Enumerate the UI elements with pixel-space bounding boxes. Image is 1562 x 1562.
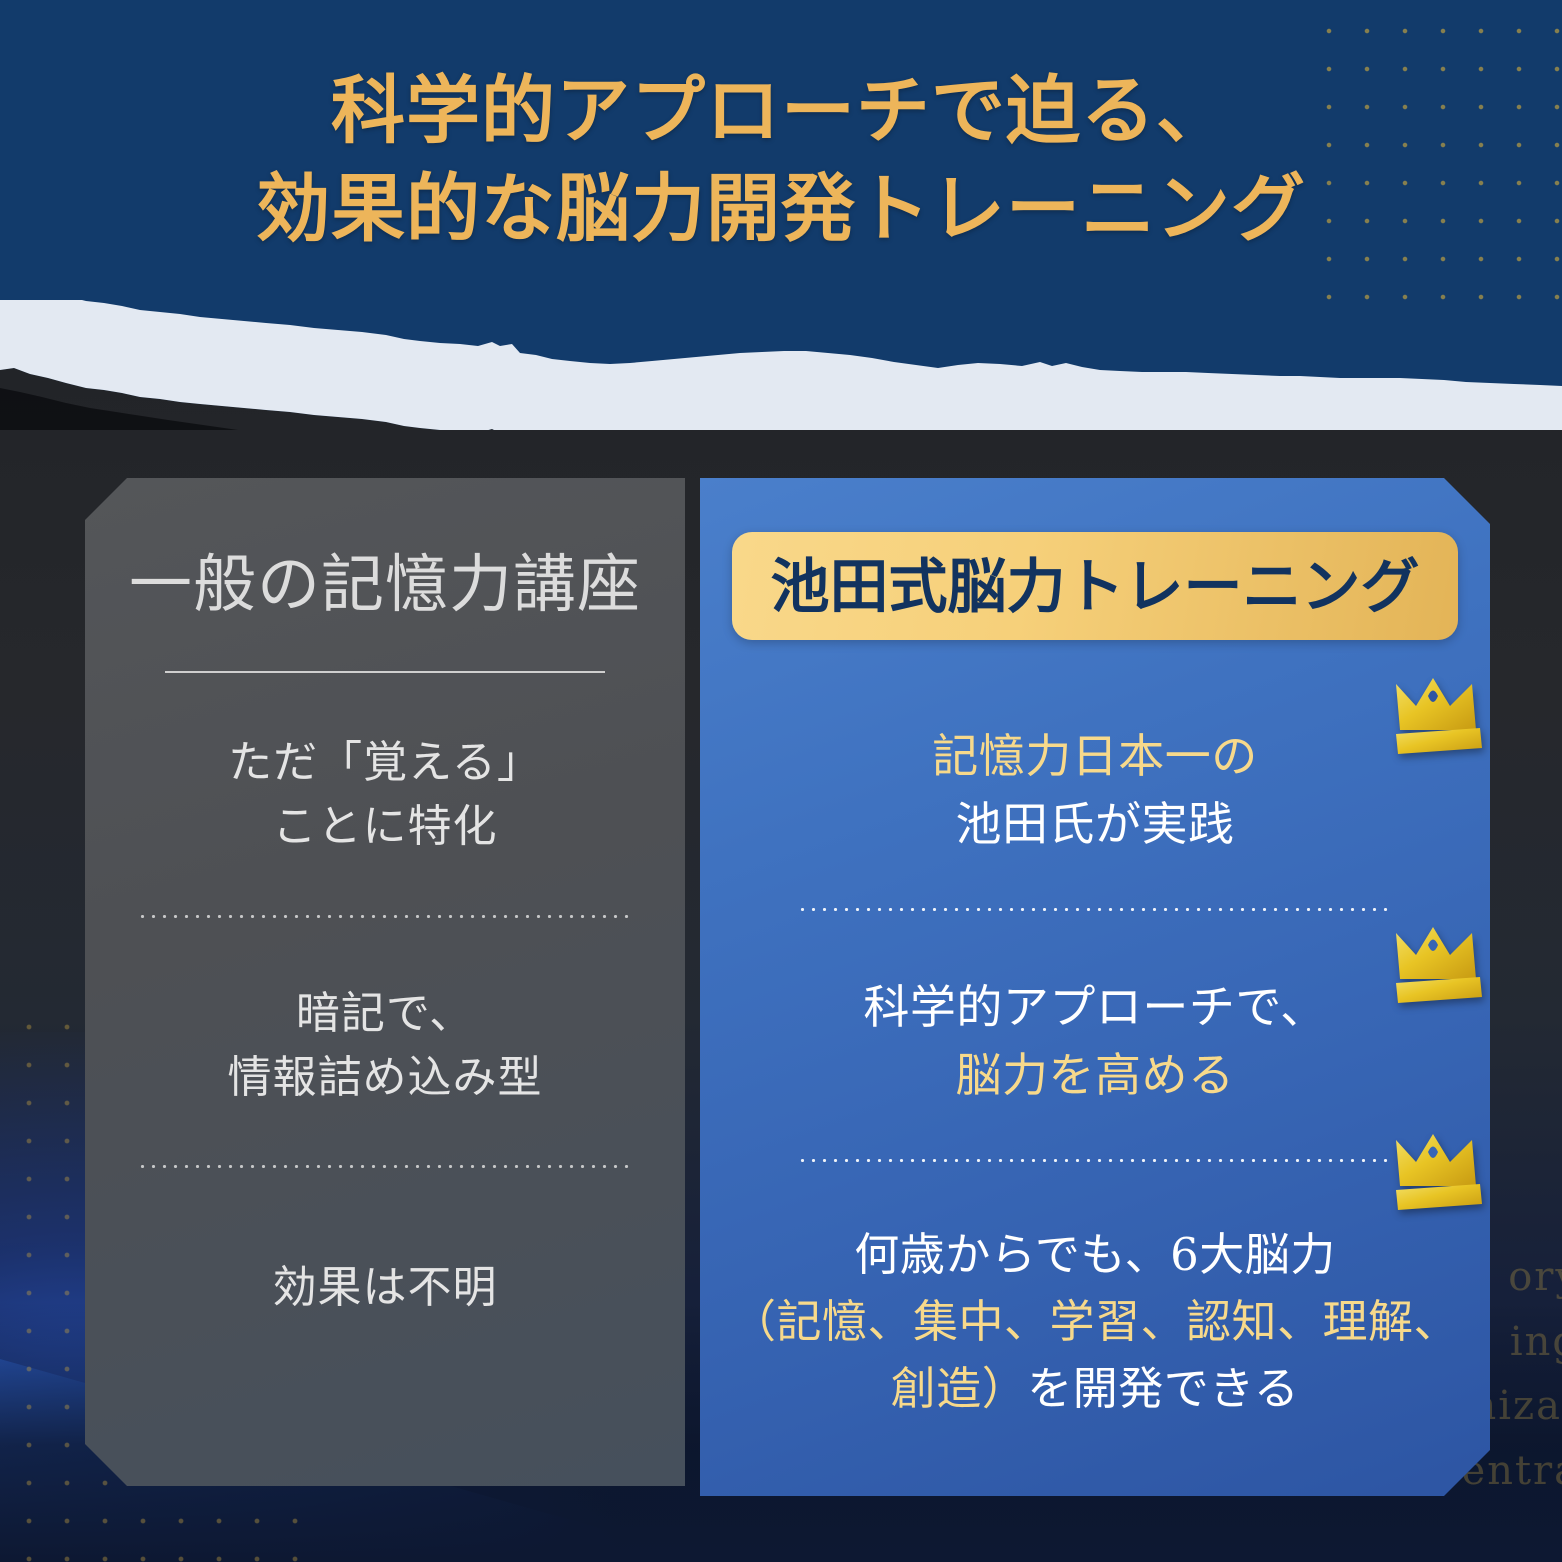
right-item-line1: 記憶力日本一の (754, 722, 1436, 790)
left-card-item-list: ただ「覚える」 ことに特化 暗記で、 情報詰め込み型 効果は不明 (85, 673, 685, 1320)
left-item-line1: ただ「覚える」 (85, 731, 685, 795)
left-card-header: 一般の記憶力講座 (85, 478, 685, 673)
list-item: 何歳からでも、6大脳力 （記憶、集中、学習、認知、理解、 創造）を開発できる (700, 1162, 1490, 1422)
crown-icon (1390, 921, 1494, 1007)
left-card-title: 一般の記憶力講座 (85, 550, 685, 619)
right-card-badge: 池田式脳力トレーニング (732, 532, 1458, 640)
crown-icon (1390, 672, 1494, 758)
infographic-canvas: ory ing Organizat Concentra 科学的アプローチで迫る、… (0, 0, 1562, 1562)
comparison-cards: 一般の記憶力講座 ただ「覚える」 ことに特化 暗記で、 情報詰め込み型 効果は不… (0, 0, 1562, 1562)
left-item-line2: 情報詰め込み型 (85, 1046, 685, 1110)
card-general-memory-course: 一般の記憶力講座 ただ「覚える」 ことに特化 暗記で、 情報詰め込み型 効果は不… (85, 478, 685, 1486)
right-card-badge-label: 池田式脳力トレーニング (770, 557, 1419, 616)
right-item-line2: （記憶、集中、学習、認知、理解、 (722, 1289, 1468, 1356)
left-item-line1: 暗記で、 (85, 982, 685, 1046)
left-item-line1: 効果は不明 (85, 1256, 685, 1320)
right-item-line1: 何歳からでも、6大脳力 (722, 1222, 1468, 1289)
list-item: 暗記で、 情報詰め込み型 (85, 918, 685, 1110)
list-item: 記憶力日本一の 池田氏が実践 (700, 664, 1490, 858)
list-item: 科学的アプローチで、 脳力を高める (700, 911, 1490, 1109)
right-item-line2: 脳力を高める (748, 1041, 1442, 1109)
right-item-line3: 創造）を開発できる (722, 1356, 1468, 1423)
right-item-line3-gold: 創造） (891, 1362, 1028, 1415)
list-item: ただ「覚える」 ことに特化 (85, 673, 685, 859)
list-item: 効果は不明 (85, 1168, 685, 1320)
right-card-item-list: 記憶力日本一の 池田氏が実践 (700, 664, 1490, 1422)
card-ikeda-brain-training: 池田式脳力トレーニング (700, 478, 1490, 1496)
right-item-line3-white: を開発できる (1027, 1362, 1299, 1415)
crown-icon (1390, 1128, 1494, 1214)
left-item-line2: ことに特化 (85, 795, 685, 859)
right-item-line2: 池田氏が実践 (754, 790, 1436, 858)
right-item-line1: 科学的アプローチで、 (748, 973, 1442, 1041)
